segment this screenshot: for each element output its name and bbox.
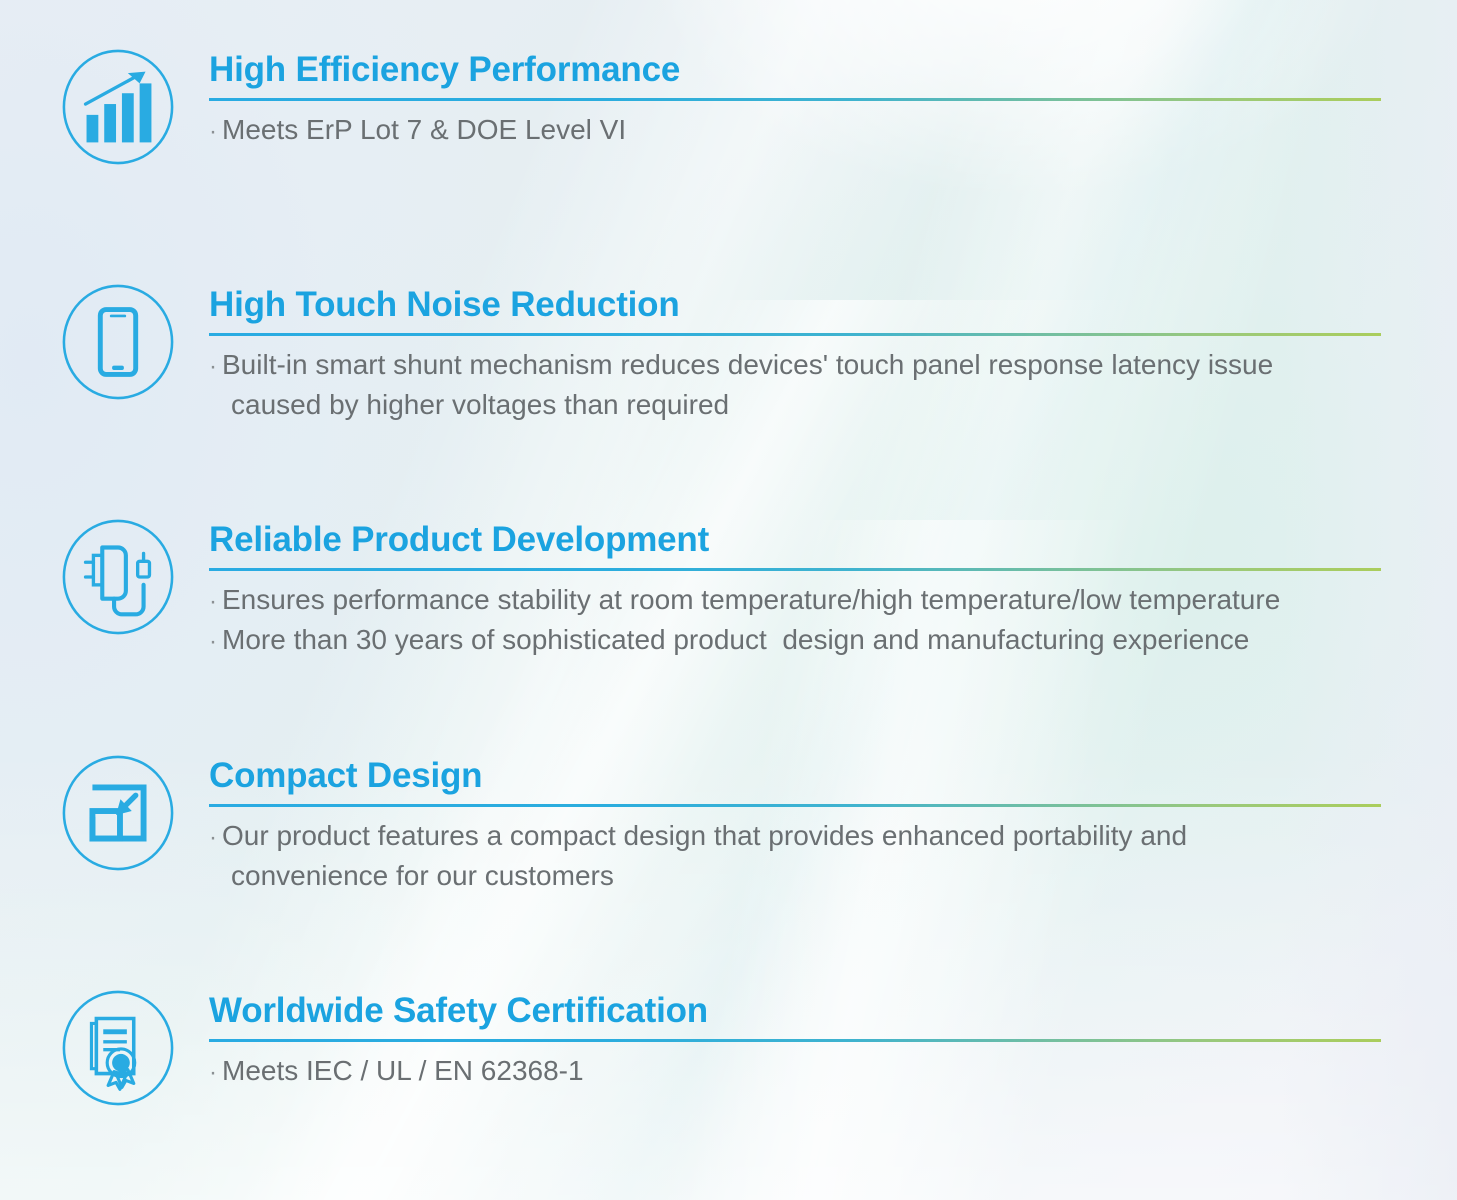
feature-divider (209, 804, 1381, 807)
feature-divider (209, 98, 1381, 101)
bar-chart-growth-icon (59, 48, 177, 166)
feature-icon-container (53, 283, 183, 401)
feature-description-line: ·Meets IEC / UL / EN 62368-1 (209, 1052, 1387, 1092)
feature-text-block: High Efficiency Performance ·Meets ErP L… (209, 48, 1457, 151)
power-adapter-icon (59, 518, 177, 636)
feature-item-high-efficiency-performance: High Efficiency Performance ·Meets ErP L… (0, 48, 1457, 166)
feature-text-block: Reliable Product Development ·Ensures pe… (209, 518, 1457, 661)
feature-description-line: ·More than 30 years of sophisticated pro… (209, 621, 1387, 661)
feature-icon-container (53, 989, 183, 1107)
feature-title: Reliable Product Development (209, 518, 1387, 562)
feature-item-worldwide-safety-certification: Worldwide Safety Certification ·Meets IE… (0, 989, 1457, 1107)
feature-title: Compact Design (209, 754, 1387, 798)
feature-text-block: Worldwide Safety Certification ·Meets IE… (209, 989, 1457, 1092)
feature-icon-container (53, 518, 183, 636)
feature-description-text: Meets ErP Lot 7 & DOE Level VI (222, 114, 626, 145)
feature-icon-container (53, 48, 183, 166)
feature-description-text: caused by higher voltages than required (231, 389, 729, 420)
compact-resize-icon (59, 754, 177, 872)
feature-divider (209, 568, 1381, 571)
feature-description-text: Meets IEC / UL / EN 62368-1 (222, 1055, 584, 1086)
feature-text-block: High Touch Noise Reduction ·Built-in sma… (209, 283, 1457, 424)
bullet-glyph: · (209, 588, 222, 615)
feature-description-text: convenience for our customers (231, 860, 614, 891)
feature-highlights-page: High Efficiency Performance ·Meets ErP L… (0, 0, 1457, 1200)
feature-description-text: More than 30 years of sophisticated prod… (222, 624, 1249, 655)
feature-icon-container (53, 754, 183, 872)
bullet-glyph: · (209, 353, 222, 380)
feature-description-text: Our product features a compact design th… (222, 820, 1187, 851)
feature-item-compact-design: Compact Design ·Our product features a c… (0, 754, 1457, 895)
bullet-glyph: · (209, 118, 222, 145)
feature-item-reliable-product-development: Reliable Product Development ·Ensures pe… (0, 518, 1457, 661)
feature-title: High Touch Noise Reduction (209, 283, 1387, 327)
feature-description-line: convenience for our customers (209, 857, 1387, 895)
feature-description-line: ·Meets ErP Lot 7 & DOE Level VI (209, 111, 1387, 151)
feature-description-line: ·Our product features a compact design t… (209, 817, 1387, 857)
certificate-award-icon (59, 989, 177, 1107)
feature-description-text: Built-in smart shunt mechanism reduces d… (222, 349, 1273, 380)
feature-title: Worldwide Safety Certification (209, 989, 1387, 1033)
feature-description-line: ·Ensures performance stability at room t… (209, 581, 1387, 621)
bullet-glyph: · (209, 628, 222, 655)
feature-description-text: Ensures performance stability at room te… (222, 584, 1280, 615)
smartphone-icon (59, 283, 177, 401)
bullet-glyph: · (209, 824, 222, 851)
feature-description-line: caused by higher voltages than required (209, 386, 1387, 424)
bullet-glyph: · (209, 1059, 222, 1086)
feature-text-block: Compact Design ·Our product features a c… (209, 754, 1457, 895)
feature-title: High Efficiency Performance (209, 48, 1387, 92)
feature-item-high-touch-noise-reduction: High Touch Noise Reduction ·Built-in sma… (0, 283, 1457, 424)
feature-divider (209, 1039, 1381, 1042)
feature-description-line: ·Built-in smart shunt mechanism reduces … (209, 346, 1387, 386)
feature-divider (209, 333, 1381, 336)
